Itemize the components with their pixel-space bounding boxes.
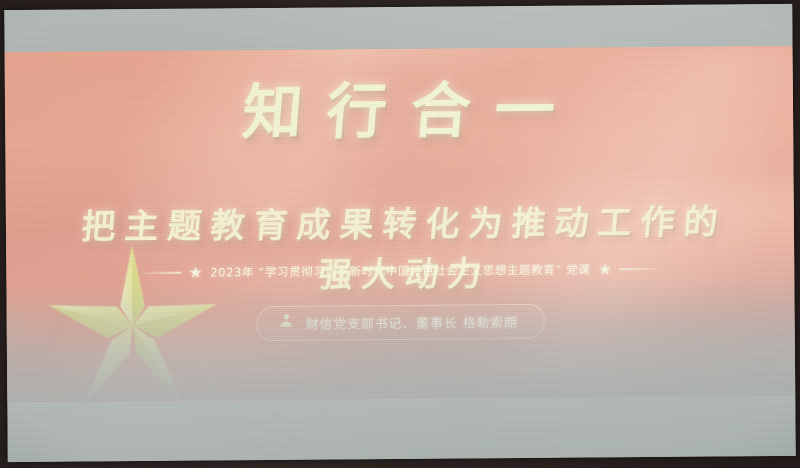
screen-band-bottom [7,394,795,462]
star-icon-right: ★ [598,262,612,277]
banner-rule-left [137,272,181,274]
star-icon-left: ★ [189,265,203,280]
slide-main-title: 知行合一 [5,60,796,153]
projector-screen-photo: 知行合一 把主题教育成果转化为推动工作的 强大动力 ★ 2023年 “学习贯彻习… [0,0,800,468]
slide-subtitle-line-1: 把主题教育成果转化为推动工作的 [5,194,796,249]
slide-bottom-haze [6,277,795,402]
presentation-slide: 知行合一 把主题教育成果转化为推动工作的 强大动力 ★ 2023年 “学习贯彻习… [5,46,796,402]
banner-text: 2023年 “学习贯彻习近平新时代中国特色社会主义思想主题教育” 党课 [210,262,591,281]
projection-screen: 知行合一 把主题教育成果转化为推动工作的 强大动力 ★ 2023年 “学习贯彻习… [4,4,796,462]
banner-rule-right [620,268,664,270]
